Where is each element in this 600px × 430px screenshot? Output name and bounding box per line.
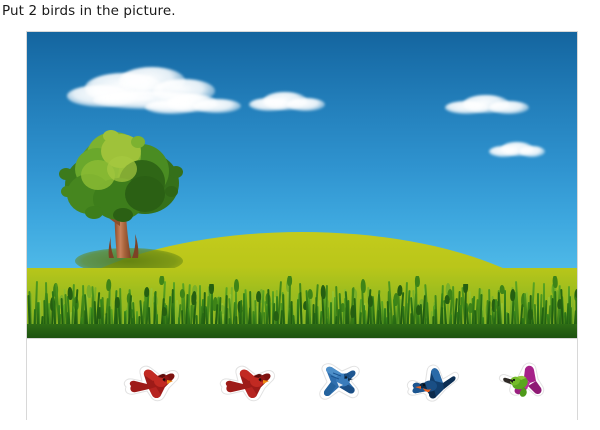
sticker-hummingbird[interactable]	[497, 359, 549, 405]
sticker-tray	[27, 338, 577, 420]
picture-canvas[interactable]	[27, 32, 577, 338]
sticker-cardinal-2[interactable]	[216, 361, 280, 403]
activity-page: Put 2 birds in the picture.	[0, 0, 600, 430]
tree	[57, 130, 187, 262]
tree-canopy	[57, 130, 187, 226]
sticker-swallow[interactable]	[403, 359, 459, 405]
instruction-text: Put 2 birds in the picture.	[2, 2, 176, 20]
sticker-cardinal-1[interactable]	[120, 361, 184, 403]
grass-base-dark	[27, 324, 577, 338]
sticker-bluejay[interactable]	[315, 358, 365, 406]
activity-panel	[26, 31, 578, 420]
